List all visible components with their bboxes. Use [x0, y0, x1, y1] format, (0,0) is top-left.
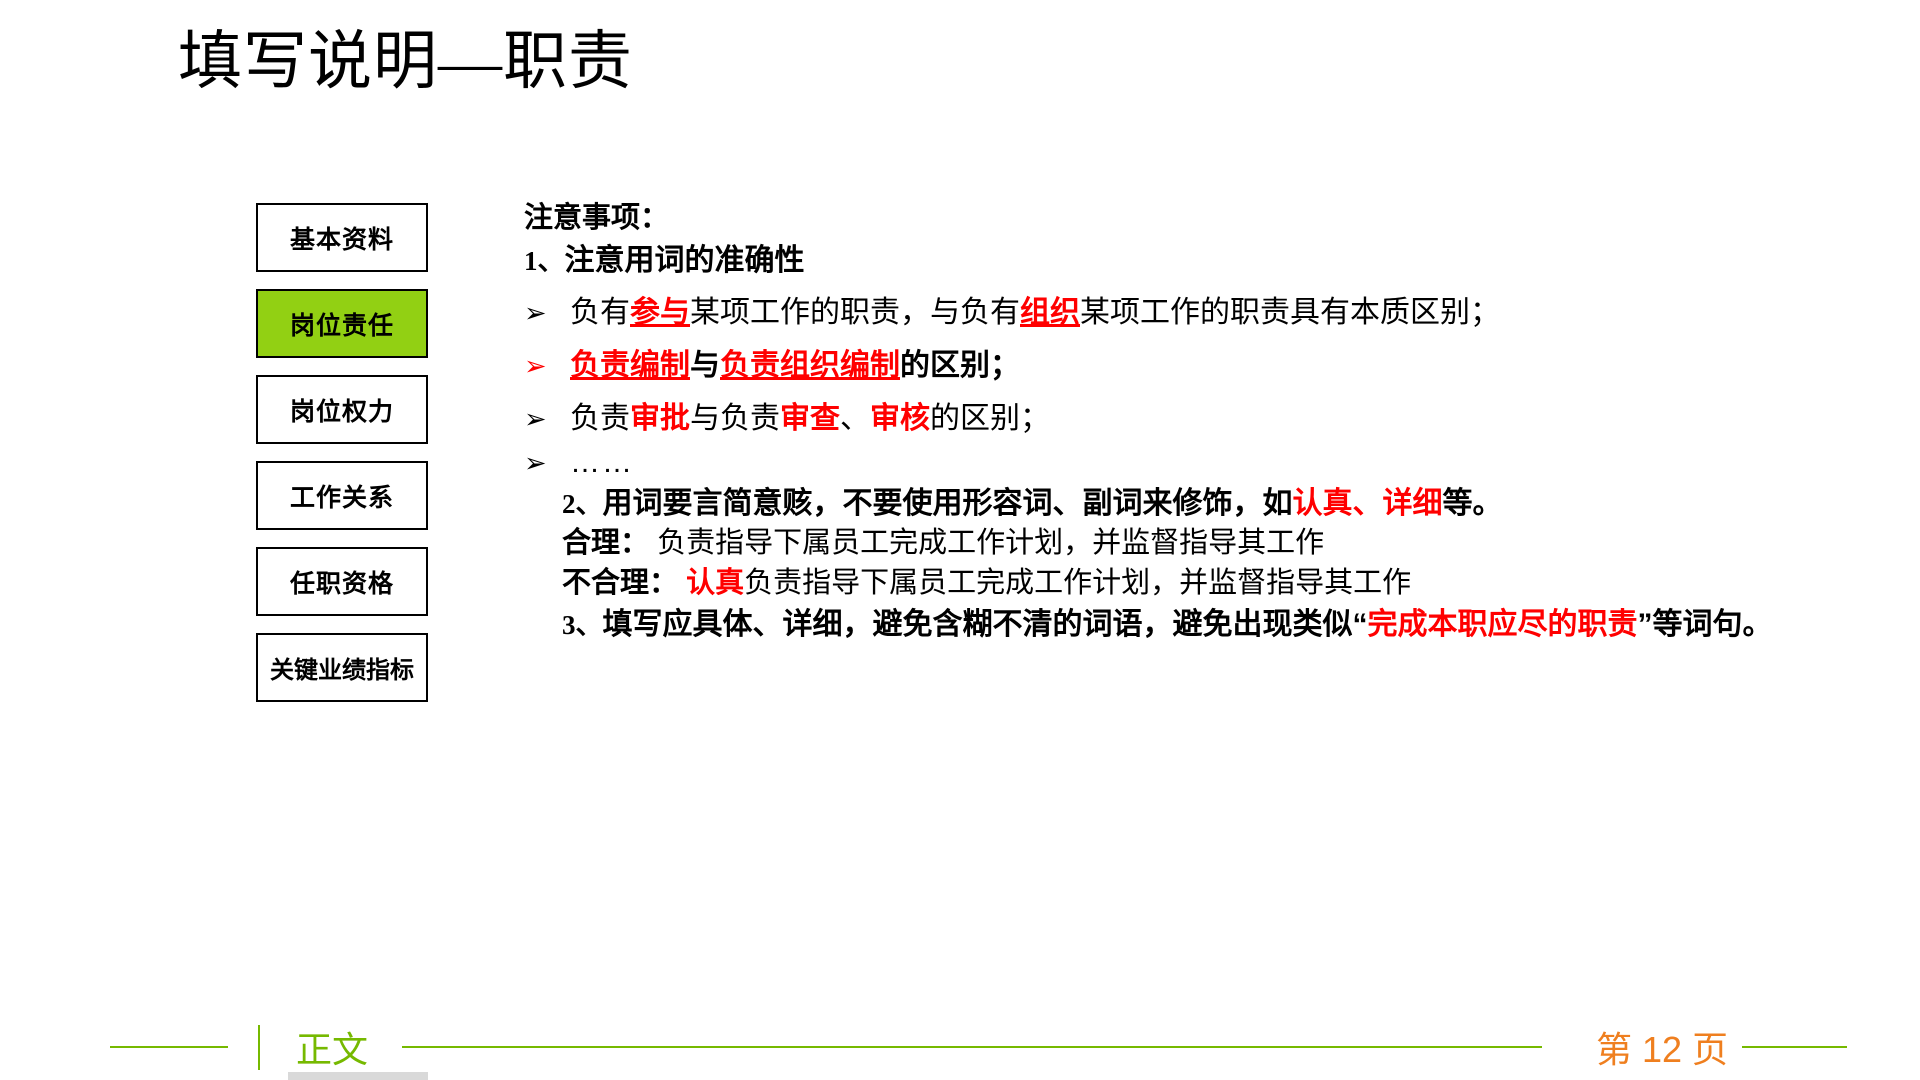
- sidebar-item-label: 任职资格: [290, 564, 394, 600]
- notes-heading: 注意事项：: [524, 204, 1854, 233]
- bullet-part: 某项工作的职责，与负有: [690, 296, 1020, 329]
- bullet-part: 负有: [570, 296, 630, 329]
- arrow-bullet-icon: ➢: [524, 404, 570, 435]
- section-2-paragraph: 2、用词要言简意赅，不要使用形容词、副词来修饰，如认真、详细等。: [524, 489, 1854, 519]
- footer-line-left: [110, 1046, 228, 1048]
- good-example-label: 合理：: [562, 527, 649, 559]
- section-3-text-after: ”等词句。: [1638, 608, 1773, 641]
- bullet-part: 与负责: [690, 402, 780, 435]
- bullet-part: 与: [690, 349, 720, 382]
- bullet-part-highlight: 组织: [1020, 296, 1080, 329]
- bad-example-text: 负责指导下属员工完成工作计划，并监督指导其工作: [744, 567, 1411, 599]
- bullet-item: ➢ ……: [524, 446, 1854, 480]
- bullet-text: ……: [570, 446, 1854, 480]
- bad-example-label: 不合理：: [562, 567, 678, 599]
- sidebar-item-qualifications[interactable]: 任职资格: [256, 547, 428, 616]
- sidebar-item-job-responsibility[interactable]: 岗位责任: [256, 289, 428, 358]
- sidebar-item-basic-info[interactable]: 基本资料: [256, 203, 428, 272]
- arrow-bullet-icon: ➢: [524, 351, 570, 382]
- page-number: 第 12 页: [1596, 1021, 1728, 1073]
- sidebar-item-label: 岗位责任: [290, 306, 394, 342]
- section-2-text-before: 用词要言简意赅，不要使用形容词、副词来修饰，如: [603, 487, 1293, 520]
- section-3-paragraph: 3、填写应具体、详细，避免含糊不清的词语，避免出现类似“完成本职应尽的职责”等词…: [524, 609, 1774, 641]
- bullet-item: ➢ 负责编制与负责组织编制的区别；: [524, 340, 1854, 384]
- bullet-part: 某项工作的职责具有本质区别；: [1080, 296, 1500, 329]
- arrow-bullet-icon: ➢: [524, 298, 570, 329]
- sidebar-item-work-relations[interactable]: 工作关系: [256, 461, 428, 530]
- content-body: 注意事项： 1、注意用词的准确性 ➢ 负有参与某项工作的职责，与负有组织某项工作…: [524, 204, 1854, 641]
- bullet-part-highlight: 审查: [780, 402, 840, 435]
- footer-section-label: 正文: [296, 1021, 368, 1073]
- sidebar-item-label: 关键业绩指标: [270, 650, 414, 685]
- bullet-item: ➢ 负责审批与负责审查、审核的区别；: [524, 393, 1854, 437]
- section-2-number: 2、: [562, 489, 603, 519]
- arrow-bullet-icon: ➢: [524, 448, 570, 479]
- bullet-text: 负有参与某项工作的职责，与负有组织某项工作的职责具有本质区别；: [570, 287, 1854, 331]
- bullet-text: 负责编制与负责组织编制的区别；: [570, 340, 1854, 384]
- bottom-scroll-artifact: [288, 1072, 428, 1080]
- sidebar-nav: 基本资料 岗位责任 岗位权力 工作关系 任职资格 关键业绩指标: [256, 203, 430, 719]
- bad-example-line: 不合理： 认真负责指导下属员工完成工作计划，并监督指导其工作: [524, 569, 1854, 598]
- footer-divider: [258, 1025, 260, 1070]
- bullet-part-highlight: 审核: [870, 402, 930, 435]
- bullet-part: 、: [840, 402, 870, 435]
- sidebar-item-label: 岗位权力: [290, 392, 394, 428]
- bullet-part-highlight: 负责编制: [570, 349, 690, 382]
- bullet-text: 负责审批与负责审查、审核的区别；: [570, 393, 1854, 437]
- section-2-text-after: 等。: [1443, 487, 1503, 520]
- footer-line-middle: [402, 1046, 1542, 1048]
- section-1-number: 1、: [524, 246, 565, 276]
- bullet-part-highlight: 参与: [630, 296, 690, 329]
- good-example-line: 合理： 负责指导下属员工完成工作计划，并监督指导其工作: [524, 529, 1854, 558]
- sidebar-item-label: 工作关系: [290, 478, 394, 514]
- bullet-part-highlight: 负责组织编制: [720, 349, 900, 382]
- bullet-part: 负责: [570, 402, 630, 435]
- sidebar-item-job-authority[interactable]: 岗位权力: [256, 375, 428, 444]
- slide-footer: 正文 第 12 页: [0, 1018, 1920, 1078]
- bullet-item: ➢ 负有参与某项工作的职责，与负有组织某项工作的职责具有本质区别；: [524, 287, 1854, 331]
- good-example-text: 负责指导下属员工完成工作计划，并监督指导其工作: [657, 527, 1324, 559]
- bullet-part: 的区别；: [900, 349, 1020, 382]
- section-1-heading: 1、注意用词的准确性: [524, 246, 1854, 276]
- section-1-title: 注意用词的准确性: [565, 244, 805, 277]
- section-3-highlight: 完成本职应尽的职责: [1368, 608, 1638, 641]
- sidebar-item-label: 基本资料: [290, 220, 394, 256]
- sidebar-item-kpi[interactable]: 关键业绩指标: [256, 633, 428, 702]
- section-2-highlight: 认真、详细: [1293, 487, 1443, 520]
- footer-line-right: [1742, 1046, 1847, 1048]
- bad-example-highlight: 认真: [686, 567, 744, 599]
- bullet-part: 的区别；: [930, 402, 1050, 435]
- page-title: 填写说明—职责: [178, 10, 633, 102]
- bullet-part-highlight: 审批: [630, 402, 690, 435]
- section-3-number: 3、: [562, 610, 603, 640]
- section-3-text-before: 填写应具体、详细，避免含糊不清的词语，避免出现类似“: [603, 608, 1368, 641]
